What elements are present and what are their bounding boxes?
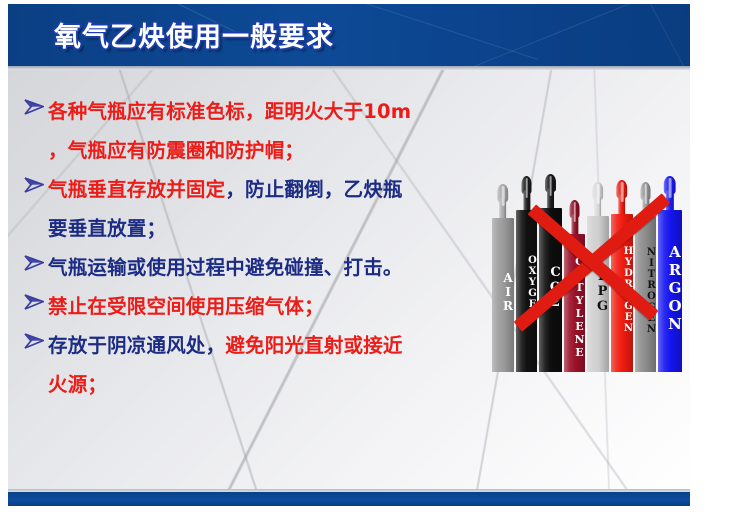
bullet-text-segment: 火源； [48, 373, 107, 396]
cylinder-label: ACETYLENE [564, 242, 585, 358]
bullet-continuation-line: 要垂直放置； [22, 209, 492, 248]
gas-cylinder: NITROGEN [635, 182, 656, 372]
bullet-text-segment: 存放于阴凉通风处， [48, 334, 225, 357]
cylinder-label: ARGON [658, 218, 682, 358]
bullet-text-segment: 要垂直放置； [48, 217, 166, 240]
bullet-indent-spacer [22, 369, 48, 399]
bullet-text: 要垂直放置； [48, 209, 166, 248]
arrow-marker-icon [22, 252, 48, 282]
cylinder-valve-highlight [669, 178, 672, 198]
bullet-text-segment: ，气瓶应有防震圈和防护帽； [48, 139, 304, 162]
gas-cylinder: ARGON [658, 176, 682, 372]
gas-cylinder: ACETYLENE [564, 200, 585, 372]
header-streak [562, 4, 690, 66]
gas-cylinder: CO2 [539, 174, 562, 372]
bullet-text-segment: 禁止在受限空间使用压缩气体； [48, 295, 324, 318]
arrow-marker-icon [22, 291, 48, 321]
arrow-marker-icon [22, 96, 48, 126]
bullet-item: 气瓶运输或使用过程中避免碰撞、打击。 [22, 248, 492, 287]
cylinder-valve-highlight [502, 186, 505, 206]
cylinder-valve-highlight [549, 176, 552, 196]
bullet-item: 气瓶垂直存放并固定，防止翻倒，乙炔瓶 [22, 170, 492, 209]
cylinder-valve-highlight [644, 184, 647, 204]
cylinder-label: LPG [587, 224, 609, 358]
bullet-text-segment: ，防止翻倒，乙炔瓶 [225, 178, 402, 201]
gas-cylinder: HYDROGEN [611, 180, 633, 372]
cylinder-valve-highlight [597, 184, 600, 204]
header-streak [383, 4, 690, 66]
slide-canvas: 氧气乙炔使用一般要求 各种气瓶应有标准色标，距明火大于10m，气瓶应有防震圈和防… [8, 4, 690, 506]
arrow-marker-icon [22, 330, 48, 360]
cylinder-label: HYDROGEN [611, 222, 633, 358]
cylinder-label: OXYGEN [516, 218, 537, 358]
gas-cylinder: OXYGEN [516, 176, 537, 372]
bullet-text-segment: 各种气瓶应有标准色标，距明火大于10m [48, 100, 411, 123]
arrow-marker-icon [22, 174, 48, 204]
bullet-text: 禁止在受限空间使用压缩气体； [48, 287, 324, 326]
cylinder-label: AIR [492, 226, 514, 358]
bullet-indent-spacer [22, 135, 48, 165]
gas-cylinder: LPG [587, 182, 609, 372]
cylinder-label: NITROGEN [635, 224, 656, 358]
page-title: 氧气乙炔使用一般要求 [54, 15, 334, 54]
cylinder-label: CO2 [539, 216, 562, 358]
bullet-text: 气瓶垂直存放并固定，防止翻倒，乙炔瓶 [48, 170, 403, 209]
bullet-text: 存放于阴凉通风处，避免阳光直射或接近 [48, 326, 403, 365]
bullet-text-segment: 气瓶运输或使用过程中避免碰撞、打击。 [48, 256, 403, 279]
cylinder-valve-highlight [525, 178, 528, 198]
bullet-text: 气瓶运输或使用过程中避免碰撞、打击。 [48, 248, 403, 287]
bullet-list: 各种气瓶应有标准色标，距明火大于10m，气瓶应有防震圈和防护帽；气瓶垂直存放并固… [22, 92, 492, 404]
bullet-text: ，气瓶应有防震圈和防护帽； [48, 131, 304, 170]
bullet-text: 火源； [48, 365, 107, 404]
cylinder-valve-highlight [621, 182, 624, 202]
bullet-text: 各种气瓶应有标准色标，距明火大于10m [48, 92, 411, 131]
cylinder-valve-highlight [573, 202, 576, 222]
gas-cylinders-illustration: AIROXYGENCO2ACETYLENELPGHYDROGENNITROGEN… [492, 152, 690, 372]
bullet-text-segment: 气瓶垂直存放并固定 [48, 178, 225, 201]
bullet-item: 各种气瓶应有标准色标，距明火大于10m [22, 92, 492, 131]
footer-bar [8, 492, 690, 506]
bullet-continuation-line: ，气瓶应有防震圈和防护帽； [22, 131, 492, 170]
bullet-indent-spacer [22, 213, 48, 243]
gas-cylinder: AIR [492, 184, 514, 372]
bullet-continuation-line: 火源； [22, 365, 492, 404]
title-bar-underline [8, 66, 690, 70]
bullet-item: 禁止在受限空间使用压缩气体； [22, 287, 492, 326]
bullet-item: 存放于阴凉通风处，避免阳光直射或接近 [22, 326, 492, 365]
bullet-text-segment: 避免阳光直射或接近 [225, 334, 402, 357]
